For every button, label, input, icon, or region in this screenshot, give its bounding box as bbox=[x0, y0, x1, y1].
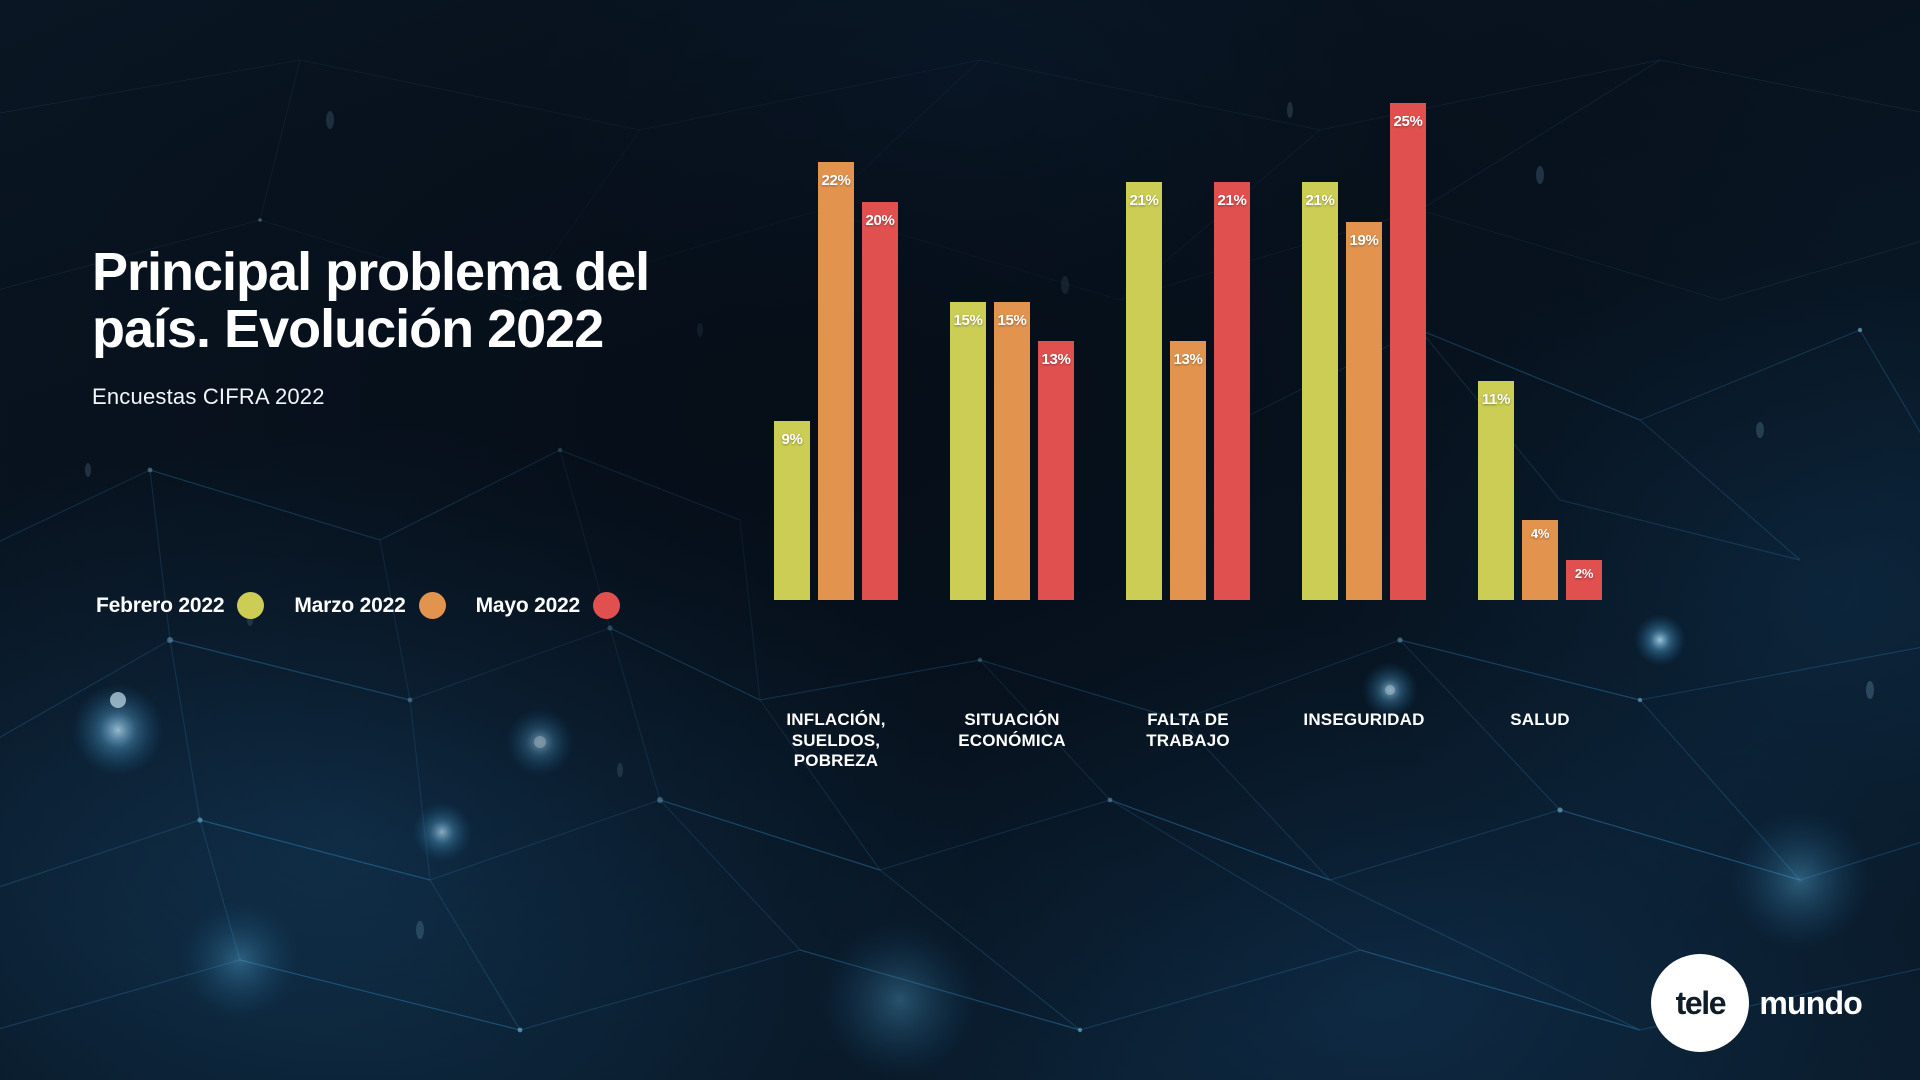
bar-value-label: 21% bbox=[1217, 192, 1246, 209]
bar: 15% bbox=[950, 302, 986, 601]
bar: 15% bbox=[994, 302, 1030, 601]
title-line-2: país. Evolución 2022 bbox=[92, 301, 852, 358]
chart-legend: Febrero 2022Marzo 2022Mayo 2022 bbox=[96, 592, 620, 619]
bar-group: 21%13%21% bbox=[1126, 182, 1250, 600]
bar: 21% bbox=[1214, 182, 1250, 600]
bar-value-label: 9% bbox=[781, 431, 802, 448]
bar-value-label: 15% bbox=[997, 312, 1026, 329]
logo-circle-mark: tele bbox=[1651, 954, 1749, 1052]
bar-value-label: 20% bbox=[865, 212, 894, 229]
bar-value-label: 4% bbox=[1531, 526, 1549, 541]
bar: 21% bbox=[1126, 182, 1162, 600]
category-label-line: SITUACIÓN bbox=[950, 710, 1074, 731]
page-title: Principal problema del país. Evolución 2… bbox=[92, 244, 852, 358]
category-label-line: POBREZA bbox=[774, 751, 898, 772]
category-label: INFLACIÓN,SUELDOS,POBREZA bbox=[774, 710, 898, 772]
legend-color-dot bbox=[419, 592, 446, 619]
bar-group: 21%19%25% bbox=[1302, 103, 1426, 601]
legend-label: Mayo 2022 bbox=[476, 594, 580, 618]
bar-value-label: 2% bbox=[1575, 566, 1593, 581]
bar-group: 15%15%13% bbox=[950, 302, 1074, 601]
bar-value-label: 22% bbox=[821, 172, 850, 189]
telemundo-logo: tele mundo bbox=[1651, 954, 1862, 1052]
logo-tele-text: tele bbox=[1676, 985, 1726, 1022]
category-label-line: INFLACIÓN, bbox=[774, 710, 898, 731]
category-label: SALUD bbox=[1478, 710, 1602, 772]
title-line-1: Principal problema del bbox=[92, 244, 852, 301]
bar: 11% bbox=[1478, 381, 1514, 600]
bar-value-label: 25% bbox=[1393, 113, 1422, 130]
bar: 25% bbox=[1390, 103, 1426, 601]
category-label-line: SALUD bbox=[1478, 710, 1602, 731]
bar: 4% bbox=[1522, 520, 1558, 600]
bar-value-label: 15% bbox=[953, 312, 982, 329]
logo-mundo-text: mundo bbox=[1759, 985, 1862, 1022]
legend-item: Febrero 2022 bbox=[96, 592, 264, 619]
bar-value-label: 13% bbox=[1041, 351, 1070, 368]
bar-value-label: 19% bbox=[1349, 232, 1378, 249]
category-label-line: ECONÓMICA bbox=[950, 731, 1074, 752]
bar: 19% bbox=[1346, 222, 1382, 600]
category-label-line: TRABAJO bbox=[1126, 731, 1250, 752]
category-label: FALTA DETRABAJO bbox=[1126, 710, 1250, 772]
bar: 13% bbox=[1038, 341, 1074, 600]
category-axis-labels: INFLACIÓN,SUELDOS,POBREZASITUACIÓNECONÓM… bbox=[760, 710, 1880, 772]
bar-group: 11%4%2% bbox=[1478, 381, 1602, 600]
bar: 21% bbox=[1302, 182, 1338, 600]
page-subtitle: Encuestas CIFRA 2022 bbox=[92, 384, 852, 410]
category-label: INSEGURIDAD bbox=[1302, 710, 1426, 772]
headline-block: Principal problema del país. Evolución 2… bbox=[92, 244, 852, 410]
category-label: SITUACIÓNECONÓMICA bbox=[950, 710, 1074, 772]
category-label-line: SUELDOS, bbox=[774, 731, 898, 752]
infographic-slide: Principal problema del país. Evolución 2… bbox=[0, 0, 1920, 1080]
bar-group: 9%22%20% bbox=[774, 162, 898, 600]
bar: 2% bbox=[1566, 560, 1602, 600]
bar-value-label: 21% bbox=[1305, 192, 1334, 209]
legend-color-dot bbox=[593, 592, 620, 619]
bar: 13% bbox=[1170, 341, 1206, 600]
legend-item: Marzo 2022 bbox=[294, 592, 445, 619]
bar-value-label: 21% bbox=[1129, 192, 1158, 209]
bar: 22% bbox=[818, 162, 854, 600]
bar-value-label: 13% bbox=[1173, 351, 1202, 368]
bar-value-label: 11% bbox=[1482, 391, 1510, 408]
bar-chart: 9%22%20%15%15%13%21%13%21%21%19%25%11%4%… bbox=[760, 150, 1880, 750]
category-label-line: FALTA DE bbox=[1126, 710, 1250, 731]
bar: 9% bbox=[774, 421, 810, 600]
category-label-line: INSEGURIDAD bbox=[1302, 710, 1426, 731]
legend-color-dot bbox=[237, 592, 264, 619]
legend-label: Febrero 2022 bbox=[96, 594, 224, 618]
bar: 20% bbox=[862, 202, 898, 600]
legend-item: Mayo 2022 bbox=[476, 592, 620, 619]
legend-label: Marzo 2022 bbox=[294, 594, 405, 618]
